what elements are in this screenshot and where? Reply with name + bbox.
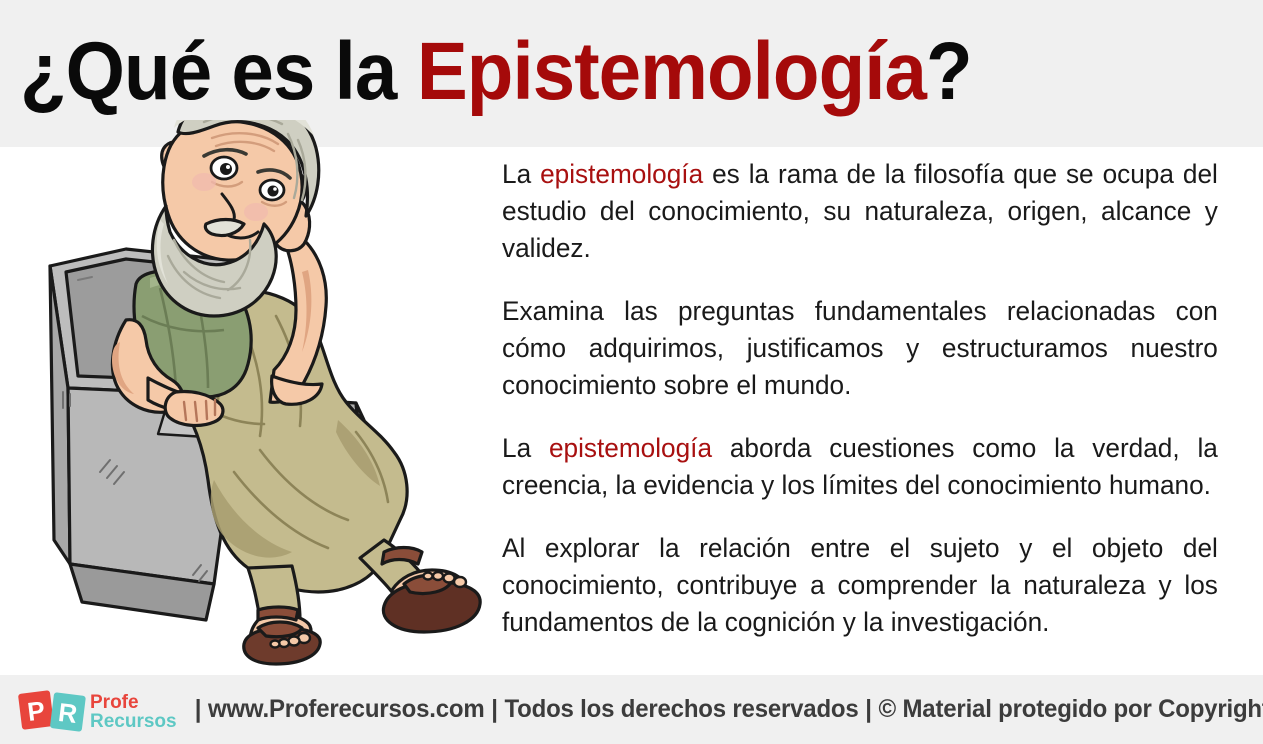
footer-separator-2: | [484, 695, 504, 724]
logo-word-recursos: Recursos [90, 711, 177, 732]
footer-separator-3: | [859, 695, 879, 724]
p2-after: Examina las preguntas fundamentales rela… [502, 296, 1218, 400]
p1-highlight: epistemología [540, 159, 703, 189]
logo-letter-p: P [26, 695, 47, 727]
philosopher-illustration [8, 120, 508, 680]
footer-legal-text: |www.Proferecursos.com|Todos los derecho… [188, 695, 1263, 724]
title-question-mark: ? [926, 31, 972, 113]
p3-highlight: epistemología [549, 433, 712, 463]
p3-before: La [502, 433, 549, 463]
logo-letter-r: R [57, 696, 80, 728]
paragraph-1: La epistemología es la rama de la filoso… [502, 156, 1218, 267]
footer-separator-1: | [188, 695, 208, 724]
page-title: ¿Qué es la Epistemología ? [20, 16, 1164, 128]
title-black-part: ¿Qué es la [20, 31, 396, 113]
title-red-part: Epistemología [417, 31, 926, 113]
paragraph-2: Examina las preguntas fundamentales rela… [502, 293, 1218, 404]
proferecursos-logo[interactable]: P R Profe Recursos [14, 684, 184, 736]
body-text-column: La epistemología es la rama de la filoso… [502, 156, 1240, 641]
copyright-icon: © [879, 695, 897, 723]
infographic-page: ¿Qué es la Epistemología ? [0, 0, 1263, 744]
paragraph-3: La epistemología aborda cuestiones como … [502, 430, 1218, 504]
footer-website[interactable]: www.Proferecursos.com [208, 695, 485, 723]
footer-copyright: Material protegido por Copyright [903, 695, 1263, 723]
logo-word-profe: Profe [90, 692, 139, 713]
footer-rights: Todos los derechos reservados [504, 695, 858, 723]
footer-band: P R Profe Recursos |www.Proferecursos.co… [0, 675, 1263, 744]
p1-before: La [502, 159, 540, 189]
paragraph-4: Al explorar la relación entre el sujeto … [502, 530, 1218, 641]
p4-after: Al explorar la relación entre el sujeto … [502, 533, 1218, 637]
